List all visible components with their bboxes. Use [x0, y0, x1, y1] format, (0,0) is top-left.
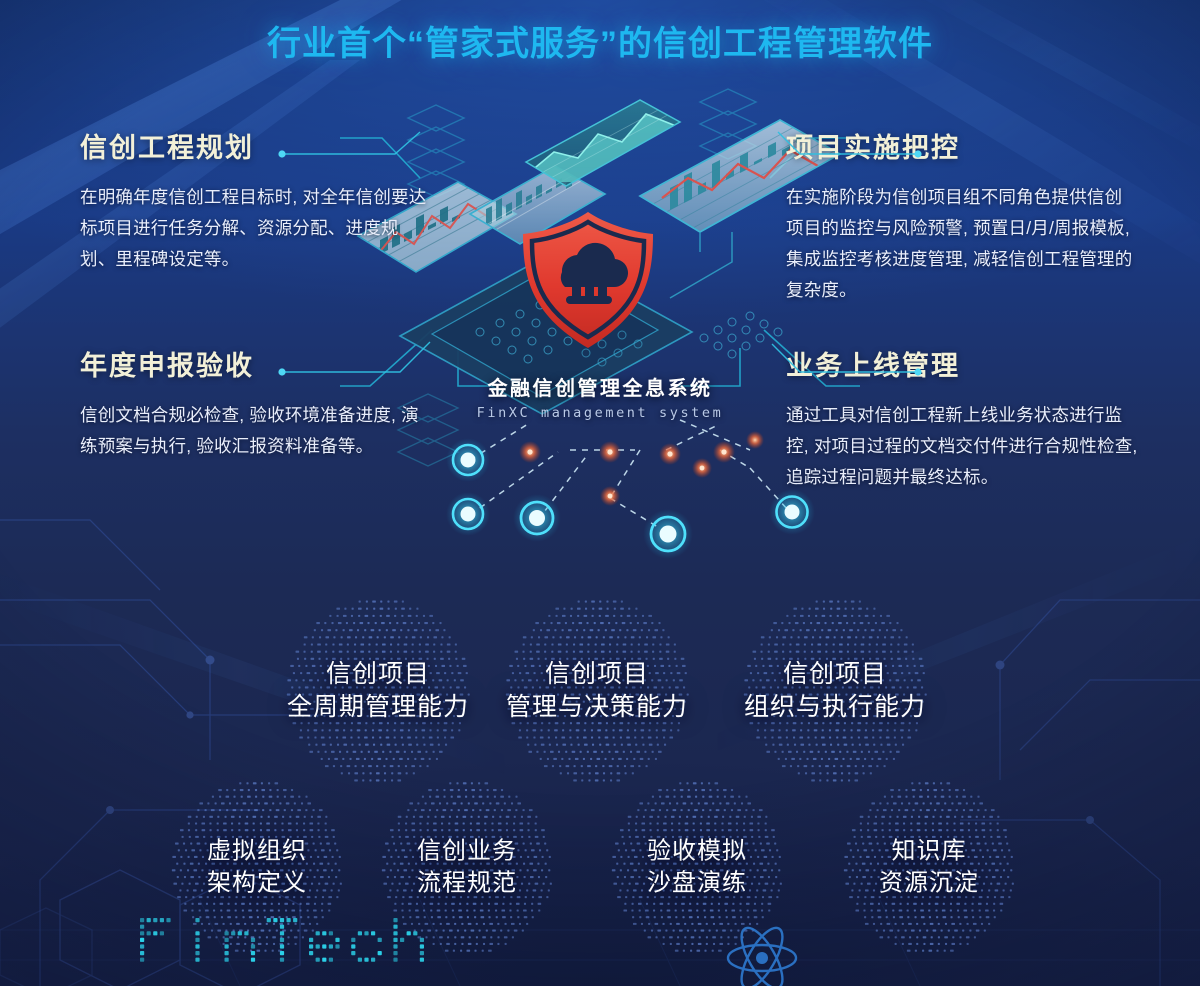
module-line2: 架构定义 [168, 867, 346, 899]
feature-body: 在明确年度信创工程目标时, 对全年信创要达标项目进行任务分解、资源分配、进度规划… [80, 182, 432, 275]
feature-heading: 信创工程规划 [80, 134, 432, 164]
module-line2: 资源沉淀 [840, 867, 1018, 899]
capability-globe-decision: 信创项目 管理与决策能力 [502, 596, 692, 786]
module-line1: 验收模拟 [608, 835, 786, 867]
module-label: 虚拟组织 架构定义 [168, 835, 346, 898]
feature-heading: 业务上线管理 [786, 352, 1138, 382]
module-line1: 虚拟组织 [168, 835, 346, 867]
fintech-watermark [0, 900, 1200, 986]
module-line1: 信创业务 [378, 835, 556, 867]
capability-label: 信创项目 管理与决策能力 [502, 658, 692, 724]
capability-label: 信创项目 全周期管理能力 [283, 658, 473, 724]
cyan-ring-node [446, 438, 815, 559]
capability-label: 信创项目 组织与执行能力 [740, 658, 930, 724]
page-title: 行业首个“管家式服务”的信创工程管理软件 [0, 16, 1200, 65]
capability-line1: 信创项目 [502, 658, 692, 691]
capability-globe-execution: 信创项目 组织与执行能力 [740, 596, 930, 786]
feature-heading: 年度申报验收 [80, 352, 432, 382]
feature-body: 信创文档合规必检查, 验收环境准备进度, 演练预案与执行, 验收汇报资料准备等。 [80, 400, 432, 462]
capability-globe-lifecycle: 信创项目 全周期管理能力 [283, 596, 473, 786]
infographic-canvas: 行业首个“管家式服务”的信创工程管理软件 [0, 0, 1200, 986]
atom-icon [728, 922, 796, 986]
capability-line2: 组织与执行能力 [740, 691, 930, 724]
module-label: 知识库 资源沉淀 [840, 835, 1018, 898]
module-label: 信创业务 流程规范 [378, 835, 556, 898]
orange-node [519, 431, 764, 506]
module-label: 验收模拟 沙盘演练 [608, 835, 786, 898]
feature-body: 在实施阶段为信创项目组不同角色提供信创项目的监控与风险预警, 预置日/月/周报模… [786, 182, 1138, 307]
module-line2: 沙盘演练 [608, 867, 786, 899]
capability-line1: 信创项目 [740, 658, 930, 691]
feature-heading: 项目实施把控 [786, 134, 1138, 164]
capability-line2: 管理与决策能力 [502, 691, 692, 724]
capability-line2: 全周期管理能力 [283, 691, 473, 724]
feature-block-planning: 信创工程规划 在明确年度信创工程目标时, 对全年信创要达标项目进行任务分解、资源… [80, 134, 432, 275]
capability-line1: 信创项目 [283, 658, 473, 691]
node-network-diagram [420, 410, 840, 560]
feature-block-annual-acceptance: 年度申报验收 信创文档合规必检查, 验收环境准备进度, 演练预案与执行, 验收汇… [80, 352, 432, 462]
module-line1: 知识库 [840, 835, 1018, 867]
module-line2: 流程规范 [378, 867, 556, 899]
feature-block-implementation: 项目实施把控 在实施阶段为信创项目组不同角色提供信创项目的监控与风险预警, 预置… [786, 134, 1138, 306]
